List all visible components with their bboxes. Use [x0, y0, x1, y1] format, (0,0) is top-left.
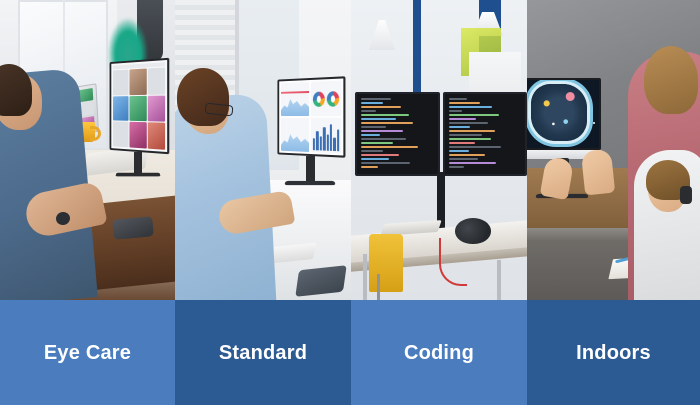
- monitor-screen: [110, 58, 170, 155]
- area-chart-card-secondary: [281, 118, 309, 152]
- webpage-layout: [113, 62, 165, 150]
- external-monitor: [107, 60, 169, 152]
- person-hair: [177, 68, 229, 126]
- label-tile-coding[interactable]: Coding: [351, 300, 527, 405]
- trend-line: [281, 91, 309, 94]
- label-tile-indoors[interactable]: Indoors: [527, 300, 700, 405]
- label-text-indoors: Indoors: [576, 343, 651, 363]
- bar-chart-card: [311, 118, 341, 153]
- monitor-left: [355, 92, 440, 176]
- monitor-base: [284, 181, 335, 185]
- woman-hair: [644, 46, 698, 114]
- webpage-body: [113, 67, 165, 149]
- label-band: Eye Care Standard Coding Indoors: [0, 300, 700, 405]
- label-text-standard: Standard: [219, 343, 307, 363]
- dashboard-layout: [281, 81, 341, 154]
- label-tile-standard[interactable]: Standard: [175, 300, 351, 405]
- code-editor-right: [449, 98, 522, 170]
- gallery-root: Eye Care Standard Coding Indoors: [0, 0, 700, 420]
- label-text-eye-care: Eye Care: [44, 343, 131, 363]
- donut-chart: [313, 91, 325, 106]
- headset: [680, 186, 692, 204]
- footer-whitespace: [0, 405, 700, 420]
- monitor-stand: [134, 152, 142, 174]
- mousepad: [295, 265, 346, 297]
- code-editor-left: [361, 98, 434, 170]
- scene-indoors-photo: [527, 0, 700, 300]
- monitor-screen: [527, 78, 601, 150]
- label-text-coding: Coding: [404, 343, 474, 363]
- chair-leg: [377, 274, 380, 300]
- photo-cell-eye-care[interactable]: [0, 0, 175, 300]
- donut-group: [313, 83, 339, 114]
- monitor-stand: [306, 156, 315, 182]
- space-artwork: [531, 84, 587, 141]
- area-chart: [281, 130, 309, 152]
- yellow-chair: [369, 234, 403, 292]
- pencil-pouch: [112, 216, 154, 239]
- monitor-right: [443, 92, 528, 176]
- monitor: [527, 78, 601, 150]
- desk-leg: [363, 254, 367, 300]
- bar-chart: [313, 120, 339, 151]
- scene-eye-care-photo: [0, 0, 175, 300]
- photo-strip: [0, 0, 700, 300]
- donut-chart: [327, 91, 339, 107]
- scene-coding-photo: [351, 0, 527, 300]
- monitor: [275, 78, 345, 156]
- donut-chart-card: [311, 81, 341, 116]
- dual-monitor-setup: [355, 92, 527, 176]
- area-chart-card: [281, 82, 309, 116]
- monitor-screen: [277, 76, 345, 157]
- label-tile-eye-care[interactable]: Eye Care: [0, 300, 175, 405]
- photo-cell-indoors[interactable]: [527, 0, 700, 300]
- hand-on-screen: [581, 149, 615, 196]
- scene-standard-photo: [175, 0, 351, 300]
- desk-leg: [497, 260, 501, 300]
- area-chart: [281, 94, 309, 116]
- monitor-base: [115, 173, 160, 177]
- photo-cell-standard[interactable]: [175, 0, 351, 300]
- photo-cell-coding[interactable]: [351, 0, 527, 300]
